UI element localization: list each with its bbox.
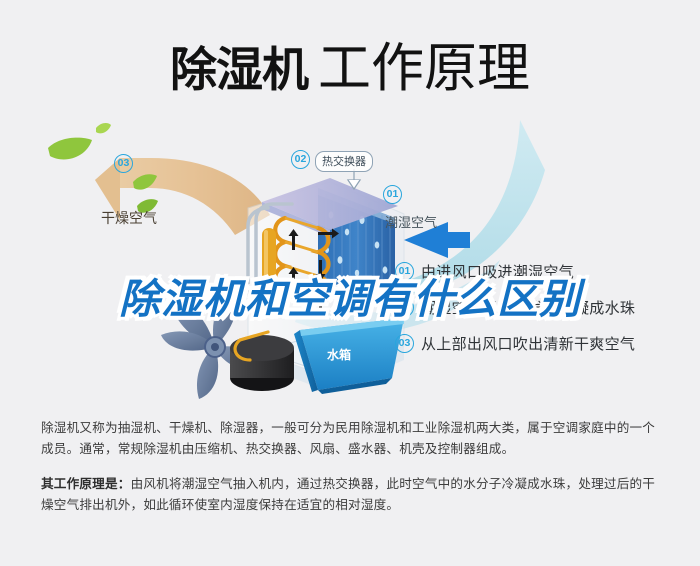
body-paragraph-2-rest: 由风机将潮湿空气抽入机内，通过热交换器，此时空气中的水分子冷凝成水珠，处理过后的… [41, 477, 655, 512]
step-number: 03 [395, 334, 414, 353]
compressor [230, 335, 294, 391]
diagram-badge-humid-air: 01 [383, 185, 402, 204]
page-title-secondary: 工作原理 [318, 39, 530, 98]
overlay-headline: 除湿机和空调有什么区别 [0, 265, 700, 325]
step-label: 从上部出风口吹出清新干爽空气 [421, 333, 635, 354]
page-title-primary: 除湿机 [170, 43, 308, 96]
label-water-tank: 水箱 [327, 346, 351, 363]
page-root: 除湿机工作原理 [0, 0, 700, 566]
body-paragraph-2: 其工作原理是：由风机将潮湿空气抽入机内，通过热交换器，此时空气中的水分子冷凝成水… [41, 474, 665, 516]
leaf-icon-1 [48, 138, 92, 160]
label-humid-air: 潮湿空气 [385, 212, 437, 231]
diagram-badge-dry-air: 03 [114, 154, 133, 173]
list-item: 03 从上部出风口吹出清新干爽空气 [395, 328, 695, 358]
page-title: 除湿机工作原理 [0, 26, 700, 102]
callout-heat-exchanger: 热交换器 [315, 151, 373, 172]
diagram-badge-heat-exchanger: 02 [291, 150, 310, 169]
article-body: 除湿机又称为抽湿机、干燥机、除湿器，一般可分为民用除湿机和工业除湿机两大类，属于… [41, 418, 665, 516]
leaf-icon-2 [96, 123, 111, 133]
body-paragraph-2-lead: 其工作原理是： [41, 477, 131, 491]
body-paragraph-1: 除湿机又称为抽湿机、干燥机、除湿器，一般可分为民用除湿机和工业除湿机两大类，属于… [41, 418, 665, 460]
label-dry-air: 干燥空气 [101, 208, 157, 228]
